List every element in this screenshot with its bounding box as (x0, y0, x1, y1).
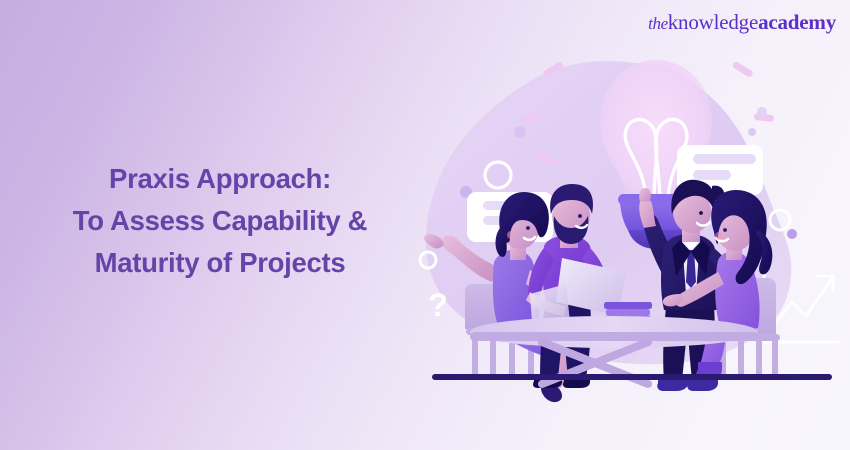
banner: theknowledgeacademy Praxis Approach: To … (0, 0, 850, 450)
page-title: Praxis Approach: To Assess Capability & … (0, 158, 440, 284)
team-meeting-illustration: ? ? (414, 44, 850, 406)
headline-line-1: Praxis Approach: (0, 158, 440, 200)
the-knowledge-academy-logo[interactable]: theknowledgeacademy (648, 12, 836, 33)
dot-accent-3 (757, 107, 767, 117)
logo-word-the: the (648, 14, 668, 33)
dot-accent-5 (787, 229, 797, 239)
dot-accent-1 (514, 126, 526, 138)
question-mark-left: ? (428, 287, 448, 323)
floor-line (432, 374, 832, 380)
headline-line-3: Maturity of Projects (0, 242, 440, 284)
logo-word-knowledge: knowledge (668, 10, 758, 34)
headline-line-2: To Assess Capability & (0, 200, 440, 242)
logo-word-academy: academy (758, 10, 836, 34)
dot-accent-4 (748, 128, 756, 136)
